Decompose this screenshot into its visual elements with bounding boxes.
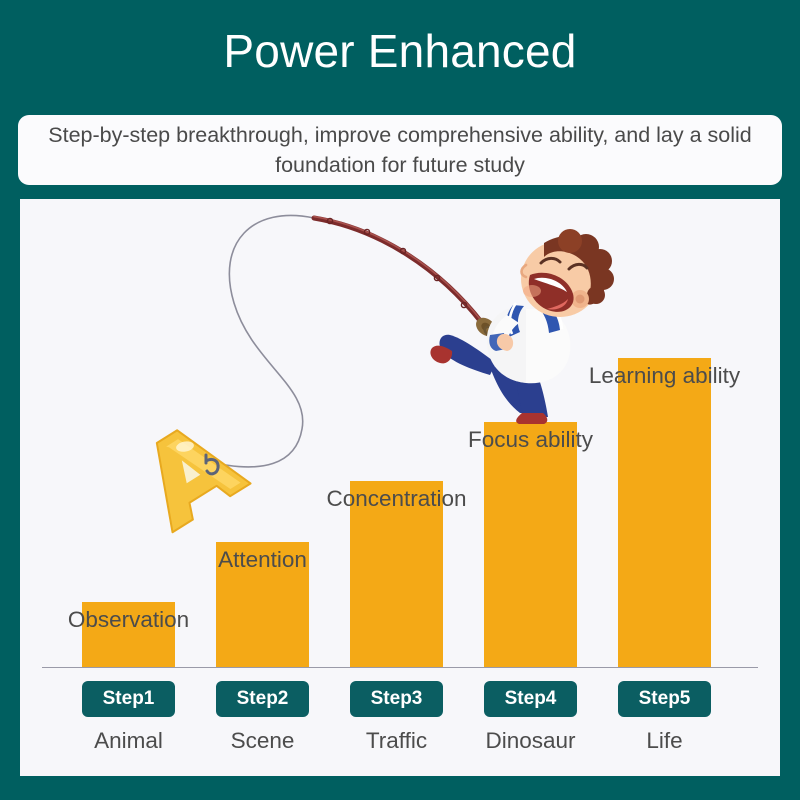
poster-root: Power Enhanced Step-by-step breakthrough… — [0, 0, 800, 800]
step-category-1: Animal — [82, 728, 175, 754]
chart-panel: Observation Attention Concentration Focu… — [20, 199, 780, 776]
bar-label-2: Attention — [218, 547, 307, 573]
axis-baseline — [42, 667, 758, 668]
bar-label-4: Focus ability — [468, 427, 593, 453]
step-badge-1[interactable]: Step1 — [82, 681, 175, 717]
step-cell-1[interactable]: Step1 Animal — [82, 681, 175, 754]
bar-label-1: Observation — [68, 607, 189, 633]
bar-rect-5[interactable] — [618, 358, 711, 667]
bar-label-3: Concentration — [326, 486, 466, 512]
step-row: Step1 Animal Step2 Scene Step3 Traffic S… — [20, 681, 780, 776]
page-title: Power Enhanced — [0, 22, 800, 80]
step-cell-2[interactable]: Step2 Scene — [216, 681, 309, 754]
step-badge-5[interactable]: Step5 — [618, 681, 711, 717]
step-category-3: Traffic — [350, 728, 443, 754]
step-cell-4[interactable]: Step4 Dinosaur — [484, 681, 577, 754]
step-badge-3[interactable]: Step3 — [350, 681, 443, 717]
step-category-2: Scene — [216, 728, 309, 754]
bar-rect-4[interactable] — [484, 422, 577, 667]
step-category-4: Dinosaur — [484, 728, 577, 754]
step-cell-3[interactable]: Step3 Traffic — [350, 681, 443, 754]
subtitle-text: Step-by-step breakthrough, improve compr… — [18, 120, 782, 180]
subtitle-card: Step-by-step breakthrough, improve compr… — [18, 115, 782, 185]
bar-label-5: Learning ability — [589, 363, 740, 389]
step-category-5: Life — [618, 728, 711, 754]
step-cell-5[interactable]: Step5 Life — [618, 681, 711, 754]
step-badge-4[interactable]: Step4 — [484, 681, 577, 717]
step-badge-2[interactable]: Step2 — [216, 681, 309, 717]
